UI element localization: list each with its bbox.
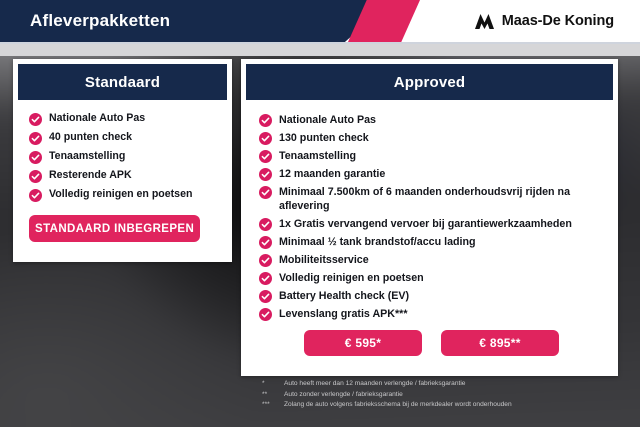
feature-label: Nationale Auto Pas bbox=[49, 112, 145, 125]
list-item: 1x Gratis vervangend vervoer bij garanti… bbox=[259, 217, 604, 231]
list-item: Nationale Auto Pas bbox=[259, 113, 604, 127]
feature-label: Volledig reinigen en poetsen bbox=[49, 188, 192, 201]
card-approved: Approved Nationale Auto Pas 130 punten c… bbox=[241, 59, 618, 376]
card-approved-body: Nationale Auto Pas 130 punten check Tena… bbox=[241, 100, 618, 356]
footnote-2: ** Auto zonder verlengde / fabrieksgaran… bbox=[262, 390, 618, 400]
list-item: Battery Health check (EV) bbox=[259, 289, 604, 303]
feature-label: Minimaal ½ tank brandstof/accu lading bbox=[279, 235, 476, 249]
footnote-text: Zolang de auto volgens fabrieksschema bi… bbox=[284, 400, 618, 410]
card-standaard-heading: Standaard bbox=[18, 64, 227, 100]
price-button-595[interactable]: € 595* bbox=[304, 330, 422, 356]
list-item: Volledig reinigen en poetsen bbox=[29, 188, 218, 202]
maas-de-koning-m-logo-icon bbox=[474, 13, 495, 30]
check-circle-icon bbox=[259, 236, 272, 249]
list-item: Minimaal ½ tank brandstof/accu lading bbox=[259, 235, 604, 249]
card-standaard: Standaard Nationale Auto Pas 40 punten c… bbox=[13, 59, 232, 262]
feature-label: Nationale Auto Pas bbox=[279, 113, 376, 127]
check-circle-icon bbox=[259, 150, 272, 163]
price-button-895[interactable]: € 895** bbox=[441, 330, 559, 356]
check-circle-icon bbox=[259, 254, 272, 267]
footnote-3: *** Zolang de auto volgens fabrieksschem… bbox=[262, 400, 618, 410]
check-circle-icon bbox=[259, 218, 272, 231]
list-item: Mobiliteitsservice bbox=[259, 253, 604, 267]
approved-feature-list: Nationale Auto Pas 130 punten check Tena… bbox=[259, 113, 604, 321]
footnote-marker: *** bbox=[262, 400, 278, 410]
footnote-marker: ** bbox=[262, 390, 278, 400]
check-circle-icon bbox=[259, 290, 272, 303]
page-title: Afleverpakketten bbox=[30, 0, 170, 42]
check-circle-icon bbox=[259, 272, 272, 285]
list-item: Volledig reinigen en poetsen bbox=[259, 271, 604, 285]
list-item: Levenslang gratis APK*** bbox=[259, 307, 604, 321]
page-root: Afleverpakketten Maas-De Koning Standaar… bbox=[0, 0, 640, 427]
footnotes: * Auto heeft meer dan 12 maanden verleng… bbox=[262, 379, 618, 411]
footnote-marker: * bbox=[262, 379, 278, 389]
check-circle-icon bbox=[259, 114, 272, 127]
brand-name: Maas-De Koning bbox=[502, 13, 614, 29]
check-circle-icon bbox=[29, 170, 42, 183]
footnote-1: * Auto heeft meer dan 12 maanden verleng… bbox=[262, 379, 618, 389]
list-item: Minimaal 7.500km of 6 maanden onderhouds… bbox=[259, 185, 604, 213]
feature-label: 1x Gratis vervangend vervoer bij garanti… bbox=[279, 217, 572, 231]
check-circle-icon bbox=[29, 113, 42, 126]
feature-label: Battery Health check (EV) bbox=[279, 289, 409, 303]
check-circle-icon bbox=[29, 151, 42, 164]
list-item: Tenaamstelling bbox=[29, 150, 218, 164]
feature-label: 12 maanden garantie bbox=[279, 167, 385, 181]
check-circle-icon bbox=[259, 308, 272, 321]
check-circle-icon bbox=[29, 189, 42, 202]
feature-label: Tenaamstelling bbox=[49, 150, 125, 163]
standaard-feature-list: Nationale Auto Pas 40 punten check Tenaa… bbox=[29, 112, 218, 202]
feature-label: Resterende APK bbox=[49, 169, 132, 182]
list-item: 130 punten check bbox=[259, 131, 604, 145]
footnote-text: Auto heeft meer dan 12 maanden verlengde… bbox=[284, 379, 618, 389]
list-item: Tenaamstelling bbox=[259, 149, 604, 163]
check-circle-icon bbox=[259, 132, 272, 145]
brand-logo: Maas-De Koning bbox=[474, 0, 614, 42]
feature-label: Minimaal 7.500km of 6 maanden onderhouds… bbox=[279, 185, 604, 213]
check-circle-icon bbox=[259, 168, 272, 181]
check-circle-icon bbox=[29, 132, 42, 145]
card-approved-heading: Approved bbox=[246, 64, 613, 100]
feature-label: Mobiliteitsservice bbox=[279, 253, 369, 267]
feature-label: Tenaamstelling bbox=[279, 149, 356, 163]
card-standaard-body: Nationale Auto Pas 40 punten check Tenaa… bbox=[13, 100, 232, 202]
header-divider bbox=[0, 42, 640, 44]
list-item: Resterende APK bbox=[29, 169, 218, 183]
feature-label: 130 punten check bbox=[279, 131, 369, 145]
list-item: 40 punten check bbox=[29, 131, 218, 145]
feature-label: Levenslang gratis APK*** bbox=[279, 307, 408, 321]
check-circle-icon bbox=[259, 186, 272, 199]
page-header: Afleverpakketten Maas-De Koning bbox=[0, 0, 640, 42]
header-gray-band bbox=[0, 44, 640, 56]
feature-label: 40 punten check bbox=[49, 131, 132, 144]
footnote-text: Auto zonder verlengde / fabrieksgarantie bbox=[284, 390, 618, 400]
standaard-inbegrepen-button[interactable]: STANDAARD INBEGREPEN bbox=[29, 215, 200, 242]
feature-label: Volledig reinigen en poetsen bbox=[279, 271, 424, 285]
list-item: Nationale Auto Pas bbox=[29, 112, 218, 126]
price-button-row: € 595* € 895** bbox=[259, 330, 604, 356]
list-item: 12 maanden garantie bbox=[259, 167, 604, 181]
